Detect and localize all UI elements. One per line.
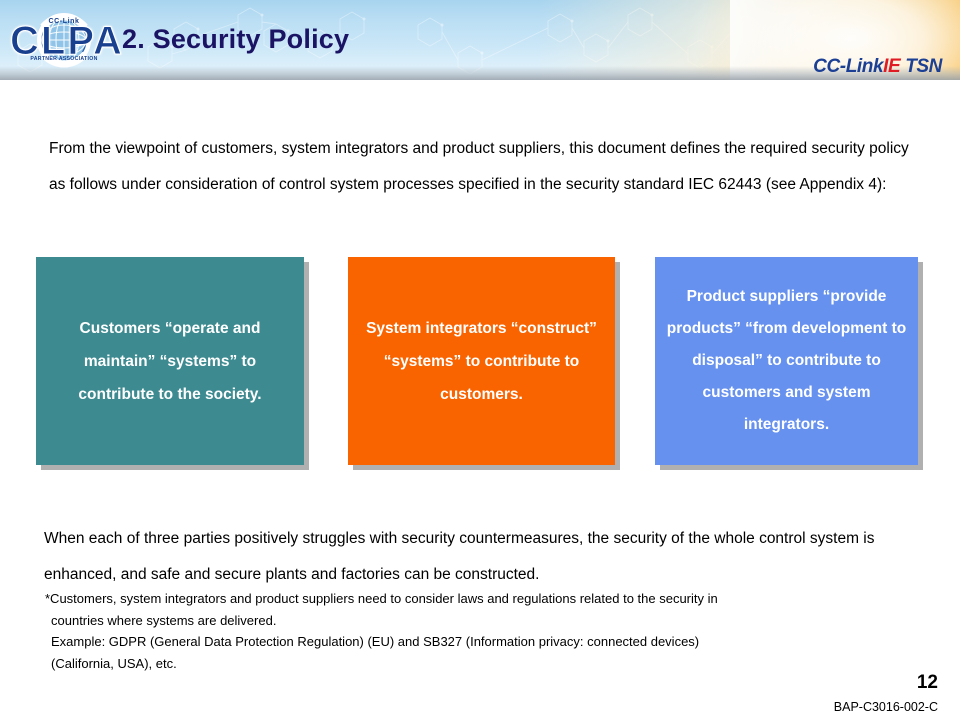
policy-box-product-suppliers-text: Product suppliers “provide products” “fr…	[665, 281, 908, 441]
document-code: BAP-C3016-002-C	[834, 700, 938, 714]
outro-paragraph: When each of three parties positively st…	[44, 521, 924, 593]
brand-cclink-text: CC-Link	[813, 56, 883, 77]
footnote-line-4: (California, USA), etc.	[45, 653, 925, 675]
page-number: 12	[917, 672, 938, 694]
policy-box-system-integrators-text: System integrators “construct” “systems”…	[358, 312, 605, 411]
cclink-ie-tsn-logo: CC-LinkIE TSN	[813, 57, 942, 76]
page-title: 2. Security Policy	[122, 24, 349, 55]
footnote-line-3: Example: GDPR (General Data Protection R…	[45, 631, 925, 653]
slide-header-banner: CC-Link PARTNER ASSOCIATION CLPA 2. Secu…	[0, 0, 960, 80]
clpa-logo: CC-Link PARTNER ASSOCIATION CLPA	[10, 7, 118, 75]
brand-tsn-text: TSN	[900, 56, 942, 77]
policy-box-system-integrators[interactable]: System integrators “construct” “systems”…	[348, 257, 615, 465]
footnote-block: *Customers, system integrators and produ…	[45, 588, 925, 674]
brand-ie-text: IE	[883, 56, 900, 77]
footnote-line-1: *Customers, system integrators and produ…	[45, 588, 925, 610]
footnote-line-2: countries where systems are delivered.	[45, 610, 925, 632]
policy-box-product-suppliers[interactable]: Product suppliers “provide products” “fr…	[655, 257, 918, 465]
clpa-logo-letters: CLPA	[10, 19, 118, 64]
header-divider	[0, 88, 960, 91]
policy-box-customers-text: Customers “operate and maintain” “system…	[46, 312, 294, 411]
intro-paragraph: From the viewpoint of customers, system …	[49, 131, 915, 203]
policy-box-customers[interactable]: Customers “operate and maintain” “system…	[36, 257, 304, 465]
